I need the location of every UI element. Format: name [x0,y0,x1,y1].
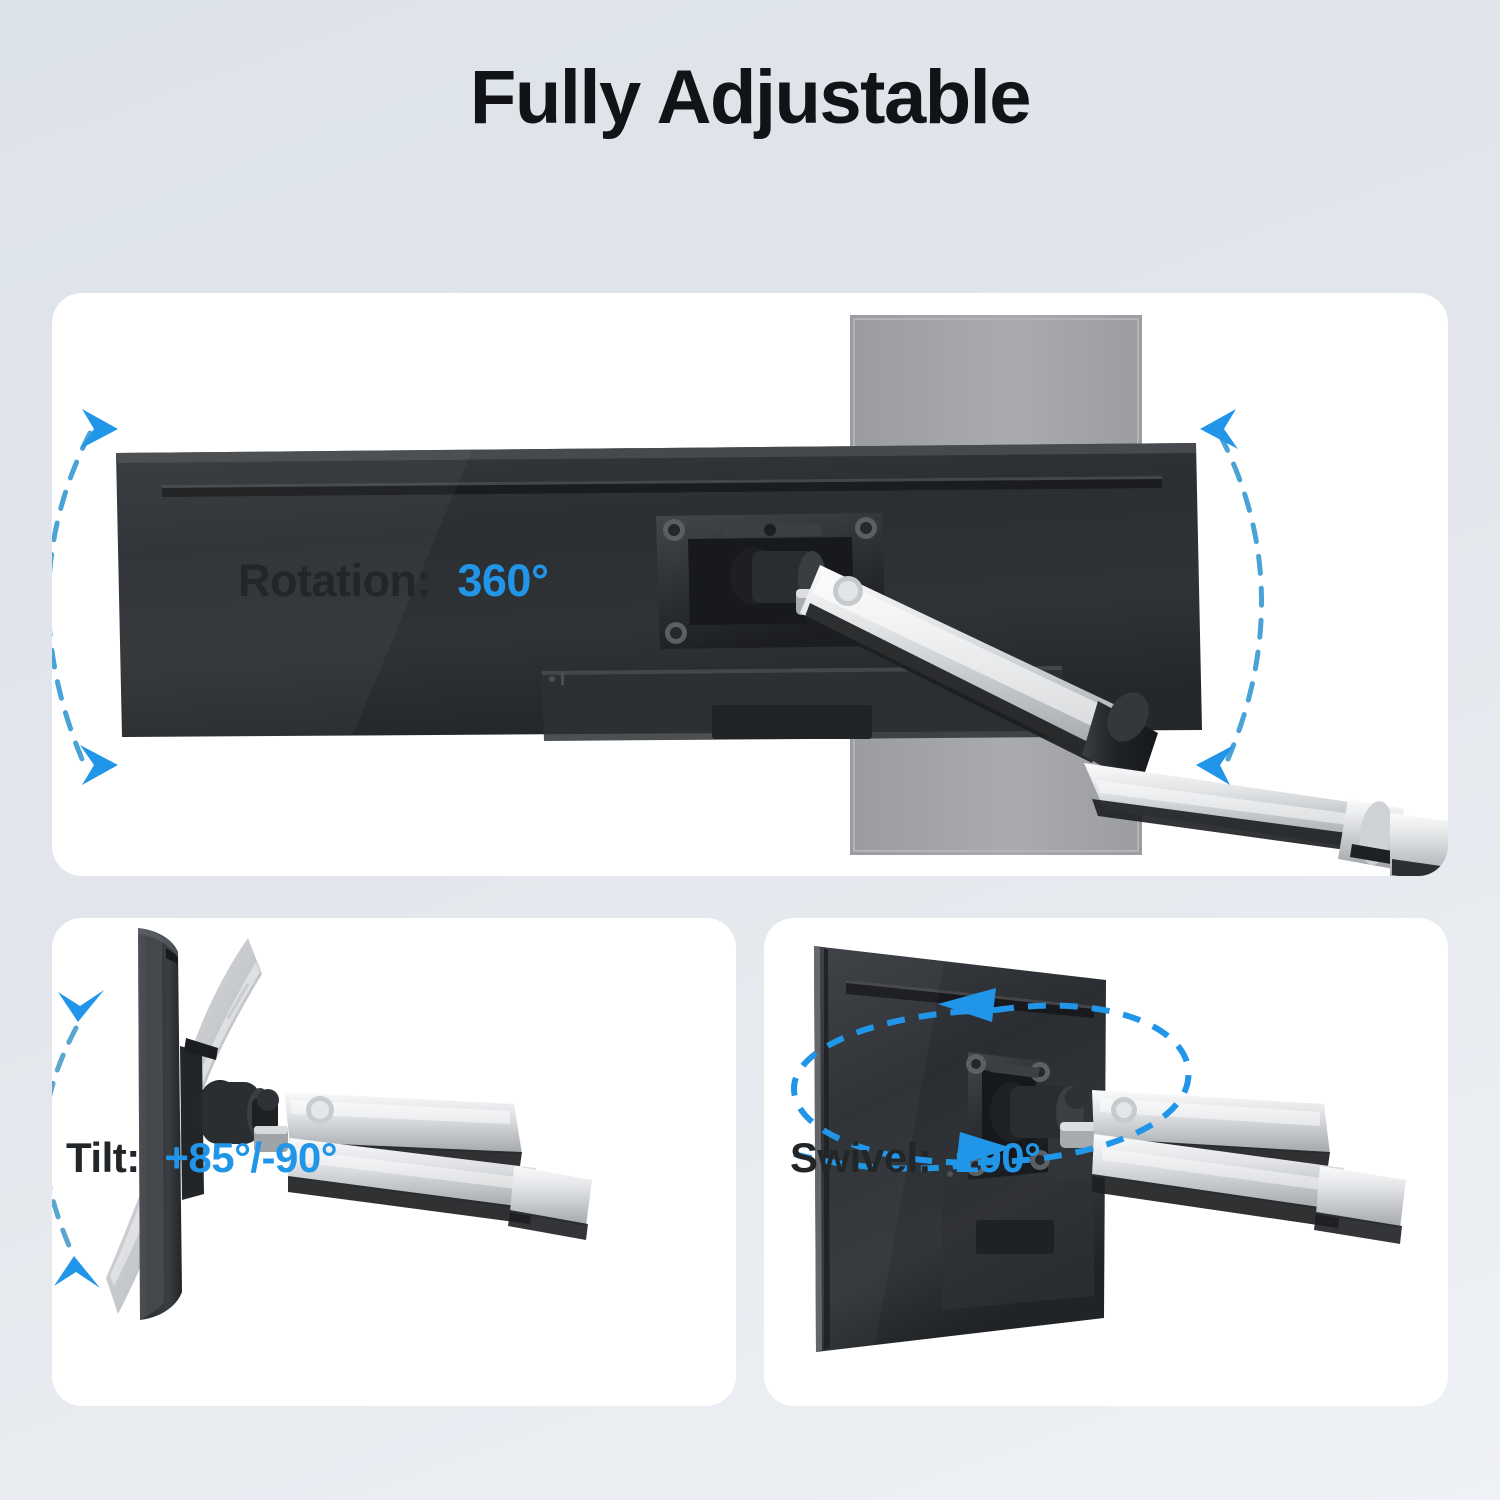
card-rotation[interactable]: Rotation: 360° [52,293,1448,876]
rotation-arc-left [52,409,118,785]
ghost-monitor-tilt-up [182,938,262,1088]
caption-tilt: Tilt: +85°/-90° [66,1134,337,1182]
monitor-side-profile [138,928,218,1320]
page-title: Fully Adjustable [0,58,1500,138]
caption-swivel-value: ±90° [956,1134,1041,1181]
caption-rotation-value: 360° [457,555,548,606]
card-swivel[interactable]: Swivel: ±90° [764,918,1448,1406]
ghost-portrait-monitor [850,315,1142,855]
monitor-arm-swivel [1092,1090,1406,1244]
caption-rotation: Rotation: 360° [238,555,548,607]
caption-tilt-value: +85°/-90° [164,1134,337,1181]
monitor-arm [800,565,1448,876]
caption-swivel-label: Swivel: [790,1134,931,1181]
vesa-mount-plate [656,513,886,649]
rotation-arc-right [1196,409,1262,785]
caption-rotation-label: Rotation: [238,555,431,606]
caption-swivel: Swivel: ±90° [790,1134,1040,1182]
caption-tilt-label: Tilt: [66,1134,140,1181]
card-tilt[interactable]: Tilt: +85°/-90° [52,918,736,1406]
